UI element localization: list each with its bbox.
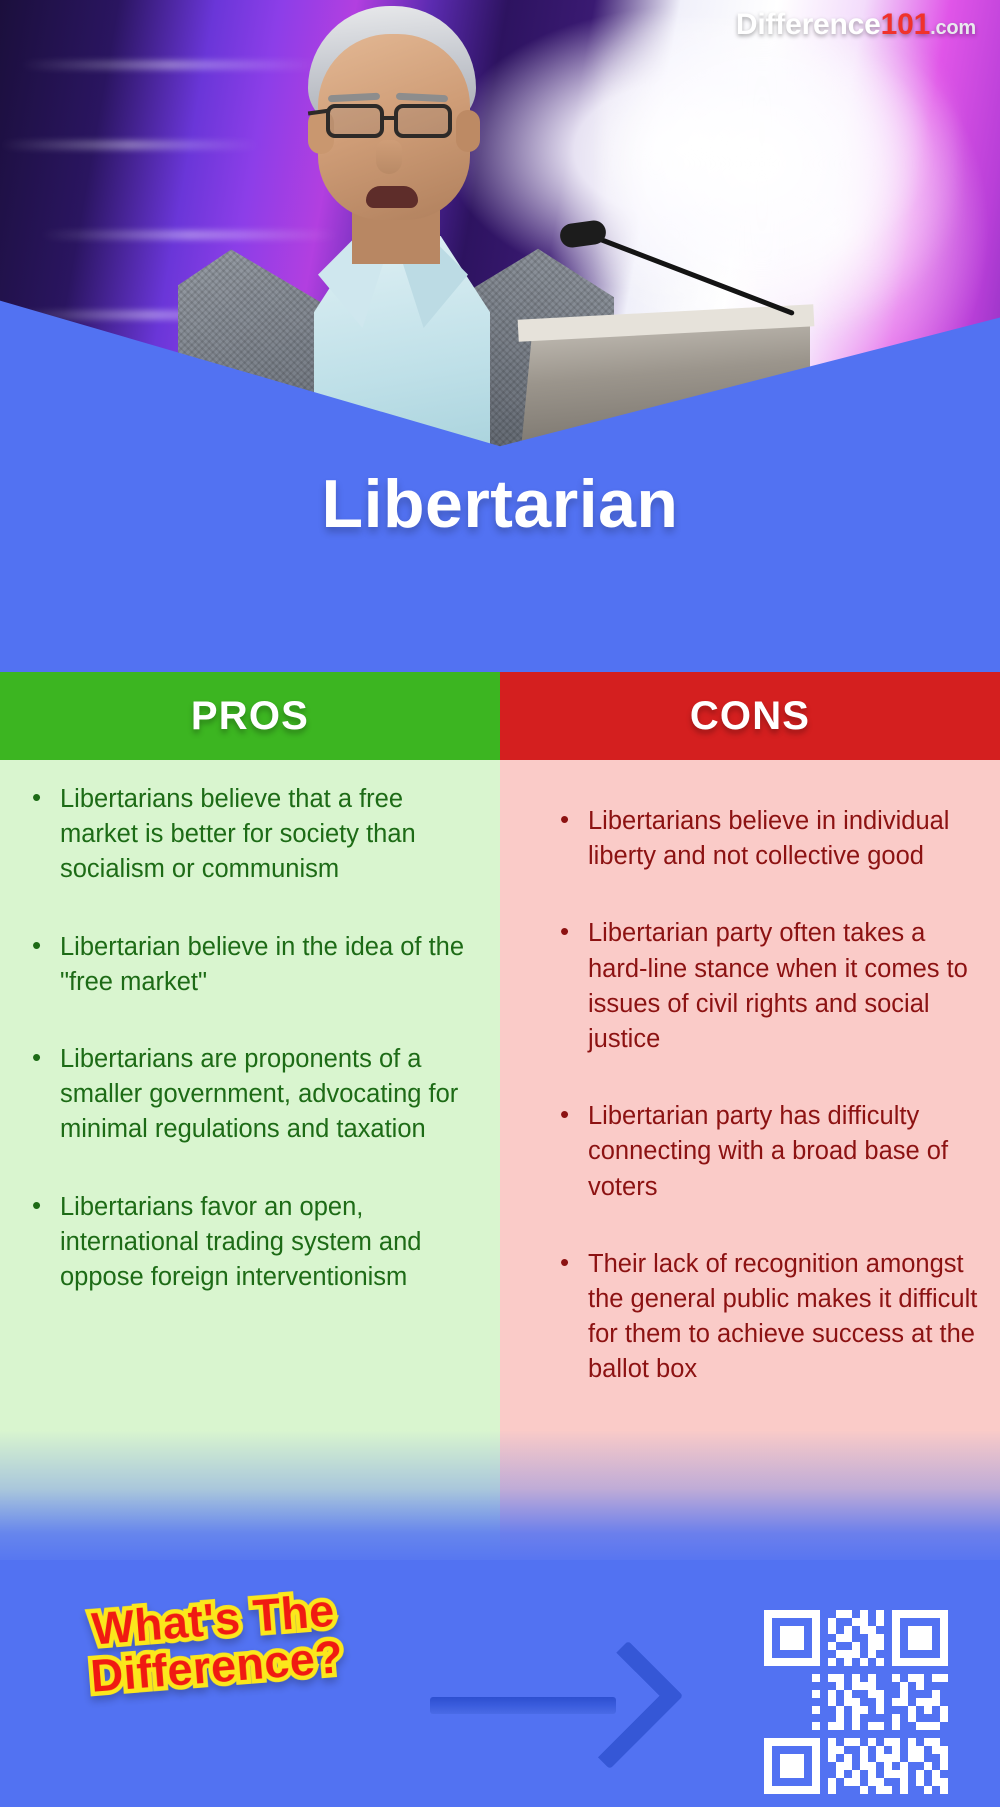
list-item: Libertarians favor an open, internationa… [24, 1190, 472, 1296]
list-item: Libertarian believe in the idea of the "… [24, 930, 472, 1000]
pros-list: Libertarians believe that a free market … [24, 782, 472, 1295]
qr-code-icon[interactable] [752, 1602, 960, 1802]
cons-header: CONS [500, 672, 1000, 760]
logo-number-text: 101 [881, 8, 930, 41]
qr-code-svg [752, 1602, 960, 1802]
list-item: Libertarians are proponents of a smaller… [24, 1042, 472, 1148]
site-logo[interactable]: Difference101.com [736, 8, 976, 42]
arrow-right-icon [430, 1645, 660, 1765]
logo-name-text: Difference [736, 8, 881, 41]
pros-header: PROS [0, 672, 500, 760]
list-item: Libertarians believe that a free market … [24, 782, 472, 888]
cons-list: Libertarians believe in individual liber… [552, 804, 980, 1387]
pros-cons-columns: Libertarians believe that a free market … [0, 760, 1000, 1560]
title-band: Libertarian [0, 380, 1000, 670]
list-item: Libertarians believe in individual liber… [552, 804, 980, 874]
infographic-page: Difference101.com Libertarian PROS CONS … [0, 0, 1000, 1807]
eyeglasses-lens-right [394, 104, 452, 138]
eyeglasses-lens-left [326, 104, 384, 138]
mouth [366, 186, 418, 208]
cons-column: Libertarians believe in individual liber… [500, 760, 1000, 1560]
list-item: Their lack of recognition amongst the ge… [552, 1247, 980, 1388]
pros-column: Libertarians believe that a free market … [0, 760, 500, 1560]
cons-header-label: CONS [690, 694, 810, 739]
eyeglasses-bridge [384, 116, 396, 120]
stage-light-glow [600, 20, 960, 340]
page-title: Libertarian [0, 465, 1000, 543]
pros-cons-header-bar: PROS CONS [0, 672, 1000, 760]
ear-right [456, 110, 480, 152]
list-item: Libertarian party often takes a hard-lin… [552, 916, 980, 1057]
nose [376, 140, 402, 174]
whats-the-difference-badge: What's The Difference? [37, 1582, 393, 1704]
pros-header-label: PROS [191, 694, 309, 739]
list-item: Libertarian party has difficulty connect… [552, 1099, 980, 1205]
logo-domain-text: .com [930, 17, 976, 39]
